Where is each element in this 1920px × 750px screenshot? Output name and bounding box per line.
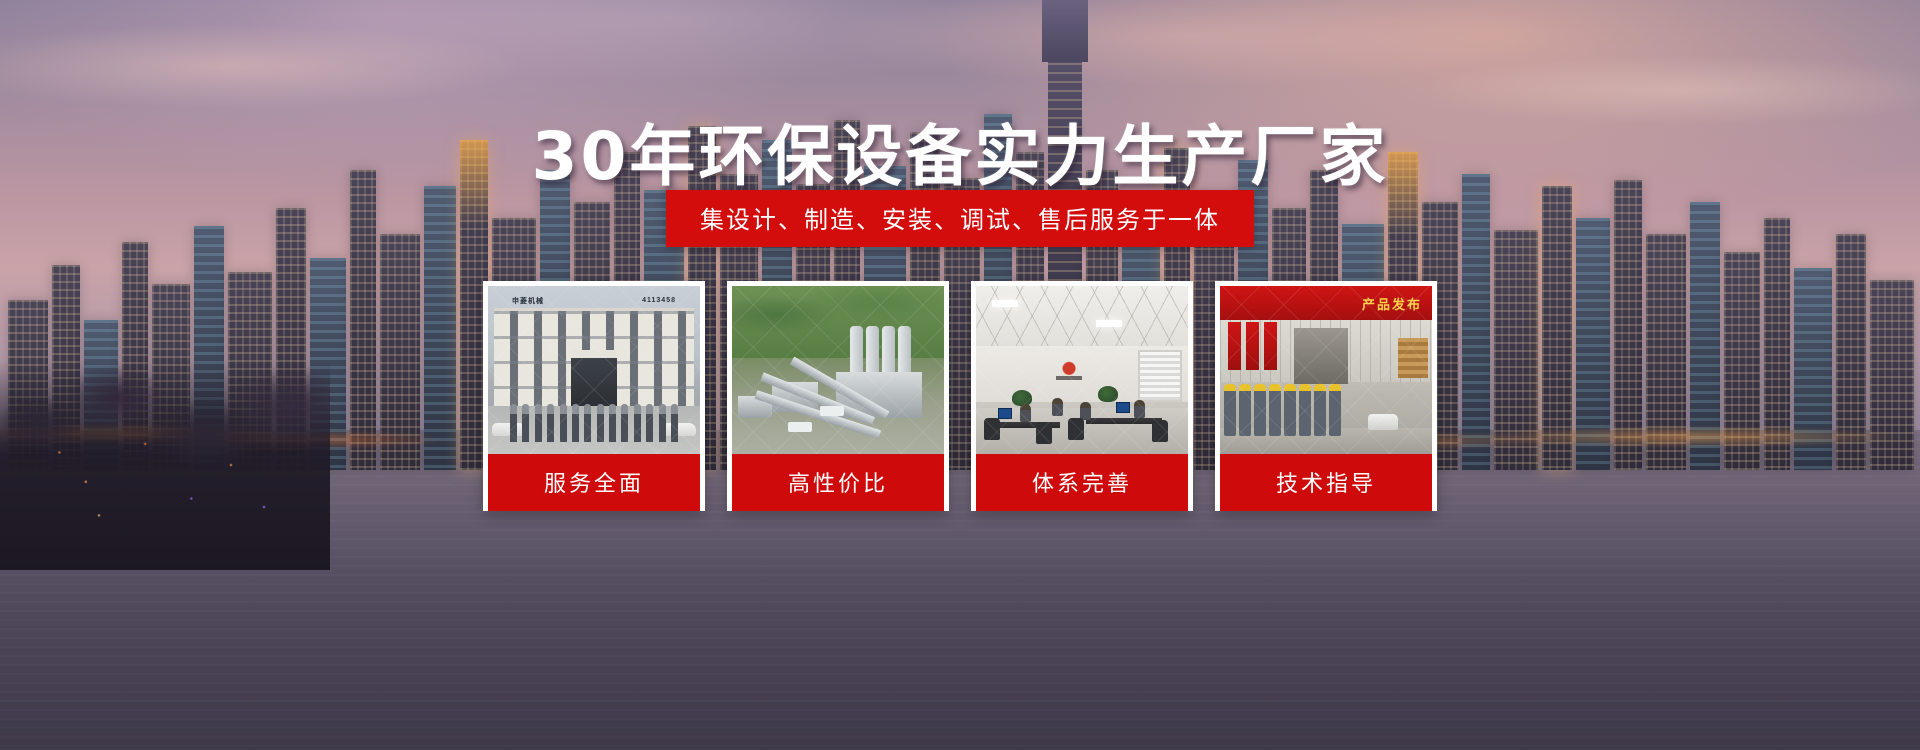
feature-card-system[interactable]: 体系完善 <box>971 281 1193 511</box>
building-signage: 申菱机械 4113458 <box>506 294 682 307</box>
company-sign-text: 申菱机械 <box>512 296 544 306</box>
subtitle-banner: 集设计、制造、安装、调试、售后服务于一体 <box>666 190 1254 247</box>
hero-banner: 30年环保设备实力生产厂家 集设计、制造、安装、调试、售后服务于一体 申菱机械 … <box>0 0 1920 750</box>
card-label-value: 高性价比 <box>732 454 944 511</box>
card-photo-workshop-team: 产品发布 <box>1220 286 1432 454</box>
card-photo-plant-aerial <box>732 286 944 454</box>
staff-lineup <box>510 398 678 442</box>
feature-card-list: 申菱机械 4113458 服务全面 <box>483 281 1437 511</box>
workshop-banner-text: 产品发布 <box>1220 286 1432 320</box>
card-label-system: 体系完善 <box>976 454 1188 511</box>
card-label-technical: 技术指导 <box>1220 454 1432 511</box>
card-photo-office-interior <box>976 286 1188 454</box>
worker-lineup <box>1224 372 1422 436</box>
feature-card-value[interactable]: 高性价比 <box>727 281 949 511</box>
card-label-service: 服务全面 <box>488 454 700 511</box>
card-photo-office-building: 申菱机械 4113458 <box>488 286 700 454</box>
feature-card-service[interactable]: 申菱机械 4113458 服务全面 <box>483 281 705 511</box>
feature-card-technical[interactable]: 产品发布 技术指导 <box>1215 281 1437 511</box>
company-sign-phone: 4113458 <box>642 297 676 304</box>
riverside-treeline <box>0 360 330 570</box>
page-title: 30年环保设备实力生产厂家 <box>0 103 1920 199</box>
